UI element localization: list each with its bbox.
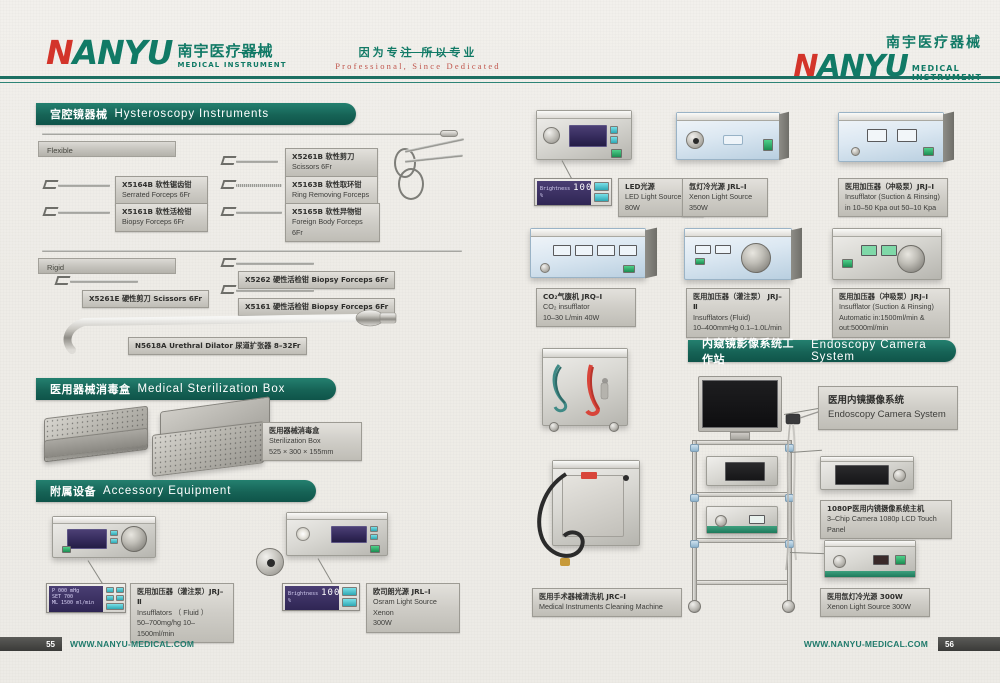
caption-osram: 欧司朗光源 JRL–Ⅰ Osram Light Source Xenon 300…: [366, 583, 460, 633]
section-camera-cn: 内窥镜影像系统工作站: [702, 335, 804, 367]
caption-xenon-spec: 350W: [689, 203, 761, 213]
inset-led-value: 100: [573, 183, 592, 193]
device-1080p-camera-port: [893, 469, 906, 482]
caption-camera-system: 医用内镜摄像系统 Endoscopy Camera System: [818, 386, 958, 430]
device-insufflator-fluid-top: [685, 229, 791, 237]
tagline-rule-left: [238, 52, 266, 53]
device-co2-display-4: [619, 245, 637, 256]
instrument-jaw-rigid-scissors: [55, 276, 71, 285]
device-led-screen: [569, 125, 607, 147]
caption-insufflator-suction-cn: 医用加压器（冲吸泵）JRJ–Ⅰ: [845, 182, 941, 192]
cleaning-machine-upper-caster-right: [609, 422, 619, 432]
caption-1080p-camera: 1080P医用内镜摄像系统主机 3–Chip Camera 1080p LCD …: [820, 500, 952, 539]
light-guide-connector: [256, 548, 284, 576]
cleaning-machine-upper: [542, 348, 628, 426]
caption-infusion-pump: 医用加压器（灌注泵）JRJ–Ⅱ Insufflators （ Fluid ） 5…: [130, 583, 234, 643]
caption-x5165b-cn: X5165B 软性异物钳: [292, 207, 373, 217]
caption-xenon-300w-en: Xenon Light Source 300W: [827, 602, 923, 612]
caption-insufflator-suction-en: Insufflator (Suction & Rinsing): [845, 192, 941, 202]
device-osram-power[interactable]: [370, 545, 380, 553]
caption-sterilization-box: 医用器械消毒盒 Sterilization Box 525 × 300 × 15…: [262, 422, 362, 461]
device-insufflator-auto-display-1: [861, 245, 877, 256]
device-insufflator-auto-power[interactable]: [842, 259, 853, 268]
endoscopy-monitor-screen: [702, 380, 778, 428]
endoscopy-monitor-stand: [730, 432, 750, 440]
brand-tagline: 因为专注 所以专业 Professional, Since Dedicated: [268, 44, 568, 71]
inset-infusion-line3: ML 1500 ml/min: [52, 600, 100, 606]
caption-x5261b-cn: X5261B 软性剪刀: [292, 152, 371, 162]
brand-logo-right: 南宇医疗器械 NANYU MEDICAL INSTRUMENT: [793, 32, 982, 82]
cart-clamp-ml: [690, 494, 699, 502]
section-header-sterilization: 医用器械消毒盒 Medical Sterilization Box: [36, 378, 336, 400]
inset-infusion-pump-screen: P 000 mHg SET 700 ML 1500 ml/min: [49, 586, 103, 612]
cleaning-machine-upper-top: [543, 349, 627, 358]
inset-infusion-btn-3[interactable]: [106, 595, 114, 601]
device-insufflator-suction-display-2: [897, 129, 917, 142]
inset-infusion-btn-1[interactable]: [106, 587, 114, 593]
caption-xenon-cn: 氙灯冷光源 JRL–Ⅰ: [689, 182, 761, 192]
caption-x5165b: X5165B 软性异物钳 Foreign Body Forceps 6Fr: [285, 203, 380, 242]
instrument-shaft-foreign: [236, 211, 282, 214]
caption-cleaning-machine-en: Medical Instruments Cleaning Machine: [539, 602, 675, 612]
brand-subtitle-line1: MEDICAL: [912, 64, 982, 73]
footer-page-number-right: 56: [945, 640, 954, 649]
device-co2-power[interactable]: [623, 265, 635, 273]
tagline-en: Professional, Since Dedicated: [268, 61, 568, 71]
device-co2-display-2: [575, 245, 593, 256]
cleaning-machine-lower-indicator: [623, 475, 629, 481]
device-xenon-300w-top: [825, 541, 915, 547]
section-sterilization-en: Medical Sterilization Box: [138, 383, 286, 395]
forceps-shaft-a: [405, 138, 464, 153]
footer-page-tab-left: 55: [0, 637, 62, 651]
instrument-jaw-serrated: [43, 180, 59, 189]
flexible-scope-shaft: [42, 133, 442, 135]
caption-co2-cn: CO₂气腹机 JRQ–Ⅰ: [543, 292, 629, 302]
section-accessory-en: Accessory Equipment: [103, 485, 231, 497]
instrument-shaft-serrated: [58, 184, 110, 187]
caption-insufflator-auto: 医用加压器（冲吸泵）JRJ–Ⅰ Insufflator (Suction & R…: [832, 288, 950, 338]
device-insufflator-auto-rotor: [897, 245, 925, 273]
device-co2-side: [645, 228, 657, 279]
cart-post-left: [692, 440, 697, 608]
inset-osram: Brightness 100 %: [282, 583, 360, 611]
flexible-scope-tip: [440, 130, 458, 137]
section-header-accessory: 附属设备 Accessory Equipment: [36, 480, 316, 502]
device-insufflator-suction-port: [851, 147, 860, 156]
device-osram-top: [287, 513, 387, 520]
device-xenon-port: [686, 131, 704, 149]
brand-wordmark-right: NANYU: [793, 52, 908, 82]
device-infusion-pump-top: [53, 517, 155, 524]
cart-clamp-tl: [690, 444, 699, 452]
caption-insufflator-auto-en: Insufflator (Suction & Rinsing): [839, 302, 943, 312]
caption-xenon-300w: 医用氙灯冷光源 300W Xenon Light Source 300W: [820, 588, 930, 617]
cart-caster-right: [782, 600, 795, 613]
caption-x5262: X5262 硬性活检钳 Biopsy Forceps 6Fr: [238, 271, 395, 289]
caption-infusion-pump-en: Insufflators （ Fluid ）: [137, 608, 227, 618]
cleaning-machine-lower-top: [553, 461, 639, 469]
footer-page-tab-right: 56: [938, 637, 1000, 651]
instrument-shaft-biopsy-flex: [58, 211, 110, 214]
caption-insufflator-auto-cn: 医用加压器（冲吸泵）JRJ–Ⅰ: [839, 292, 943, 302]
rigid-scope-shaft: [42, 250, 462, 252]
inset-osram-btn-down[interactable]: [342, 598, 357, 607]
caption-co2: CO₂气腹机 JRQ–Ⅰ CO₂ insufflator 10–30 L/min…: [536, 288, 636, 327]
device-co2-insufflator: [530, 228, 646, 278]
caption-insufflator-suction-spec: in 10–50 Kpa out 50–10 Kpa: [845, 203, 941, 213]
device-xenon-300w-stripe: [825, 571, 915, 577]
device-led-light-source: [536, 110, 632, 160]
device-infusion-pump-screen: [67, 529, 107, 549]
section-header-hysteroscopy: 宫腔镜器械 Hysteroscopy Instruments: [36, 103, 356, 125]
inset-infusion-btn-5[interactable]: [106, 603, 124, 610]
cleaning-machine-hoses: [547, 361, 625, 423]
device-infusion-pump-button-2[interactable]: [110, 538, 118, 544]
caption-osram-spec: 300W: [373, 618, 453, 628]
inset-osram-screen: Brightness 100 %: [285, 586, 339, 610]
device-insufflator-suction-side: [943, 112, 954, 163]
device-osram-port: [296, 527, 310, 541]
cart-light-source-port: [715, 515, 727, 527]
device-led-power[interactable]: [611, 149, 622, 158]
device-1080p-camera-top: [821, 457, 913, 462]
device-infusion-pump-button-1[interactable]: [110, 530, 118, 536]
device-co2-port: [540, 263, 550, 273]
caption-sterilization-cn: 医用器械消毒盒: [269, 426, 355, 436]
section-camera-en: Endoscopy Camera System: [811, 339, 956, 363]
instrument-jaw-x5161: [221, 285, 237, 294]
caption-x5261b-en: Scissors 6Fr: [292, 162, 371, 172]
section-accessory-cn: 附属设备: [50, 483, 96, 499]
caption-cleaning-machine: 医用手术器械清洗机 JRC–Ⅰ Medical Instruments Clea…: [532, 588, 682, 617]
caption-insufflator-fluid-en: Insufflators (Fluid): [693, 313, 783, 323]
brand-subtitle-line2: INSTRUMENT: [912, 73, 982, 82]
device-infusion-pump-power[interactable]: [62, 546, 71, 553]
device-insufflator-auto-display-2: [881, 245, 897, 256]
instrument-jaw-biopsy-flex: [43, 207, 59, 216]
instrument-shaft-x5262: [236, 262, 314, 265]
brand-letters-anyu: ANYU: [73, 33, 173, 72]
caption-sterilization-size: 525 × 300 × 155mm: [269, 447, 355, 457]
inset-osram-label: Brightness: [288, 591, 318, 597]
device-insufflator-fluid-power[interactable]: [695, 258, 705, 265]
brand-wordmark: NANYU: [46, 36, 172, 69]
inset-infusion-btn-4[interactable]: [116, 595, 124, 601]
section-header-camera-system: 内窥镜影像系统工作站 Endoscopy Camera System: [688, 340, 956, 362]
caption-x5161b-en: Biopsy Forceps 6Fr: [122, 217, 201, 227]
caption-xenon: 氙灯冷光源 JRL–Ⅰ Xenon Light Source 350W: [682, 178, 768, 217]
caption-x5161b: X5161B 软性活检钳 Biopsy Forceps 6Fr: [115, 203, 208, 232]
tagline-rule-right: [400, 52, 460, 53]
caption-insufflator-fluid-cn: 医用加压器（灌注泵） JRJ–Ⅱ: [693, 292, 783, 313]
instrument-shaft-ring: [236, 184, 282, 187]
device-led-top: [537, 111, 631, 119]
device-insufflator-fluid-side: [791, 228, 802, 281]
device-xenon-side: [779, 112, 789, 160]
device-xenon-control-panel[interactable]: [723, 135, 743, 145]
inset-osram-btn-up[interactable]: [342, 587, 357, 596]
device-osram-button-1[interactable]: [370, 526, 378, 532]
caption-insufflator-auto-spec: Automatic in:1500ml/min & out:5000ml/min: [839, 313, 943, 334]
device-infusion-pump: [52, 516, 156, 558]
device-xenon-300w-port: [833, 555, 846, 568]
caption-x5165b-en: Foreign Body Forceps 6Fr: [292, 217, 373, 238]
caption-xenon-300w-cn: 医用氙灯冷光源 300W: [827, 592, 923, 602]
device-osram-screen: [331, 526, 367, 543]
section-hysteroscopy-cn: 宫腔镜器械: [50, 106, 108, 122]
device-insufflator-fluid-rotor: [741, 243, 771, 273]
caption-n5618a: N5618A Urethral Dilator 尿道扩张器 8–32Fr: [128, 337, 307, 355]
device-insufflator-fluid-display-2: [715, 245, 731, 254]
device-insufflator-fluid: [684, 228, 792, 280]
inset-led-btn-up[interactable]: [594, 182, 609, 191]
section-hysteroscopy-en: Hysteroscopy Instruments: [115, 108, 270, 120]
instrument-shaft-scissors: [236, 160, 278, 163]
caption-sterilization-en: Sterilization Box: [269, 436, 355, 446]
device-xenon-top: [677, 113, 779, 121]
device-co2-display-1: [553, 245, 571, 256]
section-sterilization-cn: 医用器械消毒盒: [50, 381, 131, 397]
cart-camera-unit-screen: [725, 462, 765, 481]
device-co2-top: [531, 229, 645, 237]
brand-letter-n: N: [46, 33, 73, 72]
caption-x5164b-cn: X5164B 软性锯齿钳: [122, 180, 201, 190]
device-xenon-300w-power[interactable]: [895, 555, 906, 565]
device-insufflator-suction-display-1: [867, 129, 887, 142]
device-insufflator-fluid-display-1: [695, 245, 711, 254]
caption-co2-en: CO₂ insufflator: [543, 302, 629, 312]
device-xenon-light-source: [676, 112, 780, 160]
caption-1080p-camera-cn: 1080P医用内镜摄像系统主机: [827, 504, 945, 514]
device-xenon-port-hole: [693, 138, 699, 144]
caption-camera-system-cn: 医用内镜摄像系统: [828, 394, 948, 408]
caption-x5163b-cn: X5163B 软性取环钳: [292, 180, 371, 190]
device-xenon-power[interactable]: [763, 139, 773, 151]
device-led-button-2[interactable]: [610, 136, 618, 144]
light-guide-connector-hole: [267, 559, 275, 567]
forceps-ring-lower: [398, 168, 424, 200]
caption-cleaning-machine-cn: 医用手术器械清洗机 JRC–Ⅰ: [539, 592, 675, 602]
subgroup-label-flexible: Flexible: [38, 141, 176, 157]
caption-osram-cn: 欧司朗光源 JRL–Ⅰ: [373, 587, 453, 597]
inset-osram-unit: %: [288, 598, 336, 604]
inset-led: Brightness 100 %: [534, 178, 612, 206]
inset-infusion-pump: P 000 mHg SET 700 ML 1500 ml/min: [46, 583, 126, 613]
caption-insufflator-fluid: 医用加压器（灌注泵） JRJ–Ⅱ Insufflators (Fluid) 10…: [686, 288, 790, 338]
footer-page-number-left: 55: [46, 640, 55, 649]
cart-light-source-display: [749, 515, 765, 524]
caption-n5618a-text: N5618A Urethral Dilator 尿道扩张器 8–32Fr: [135, 341, 300, 350]
device-co2-display-3: [597, 245, 615, 256]
instrument-jaw-foreign: [221, 207, 237, 216]
inset-infusion-btn-2[interactable]: [116, 587, 124, 593]
caption-1080p-camera-en: 3–Chip Camera 1080p LCD Touch Panel: [827, 514, 945, 535]
caption-x5261b: X5261B 软性剪刀 Scissors 6Fr: [285, 148, 378, 177]
device-osram-button-2[interactable]: [370, 534, 378, 540]
device-infusion-pump-rotor: [121, 526, 147, 552]
inset-osram-value: 100: [321, 588, 340, 598]
inset-led-btn-down[interactable]: [594, 193, 609, 202]
cart-light-source: [706, 506, 778, 534]
device-insufflator-auto-top: [833, 229, 941, 237]
footer-url-left[interactable]: WWW.NANYU-MEDICAL.COM: [70, 639, 194, 649]
caption-x5161b-cn: X5161B 软性活检钳: [122, 207, 201, 217]
inset-led-screen: Brightness 100 %: [537, 181, 591, 205]
caption-co2-spec: 10–30 L/min 40W: [543, 313, 629, 323]
device-osram-light-source: [286, 512, 388, 556]
device-xenon-300w-display: [873, 555, 889, 565]
catalog-page: NANYU 南宇医疗器械 MEDICAL INSTRUMENT 因为专注 所以专…: [0, 0, 1000, 683]
caption-x5261e-text: X5261E 硬性剪刀 Scissors 6Fr: [89, 294, 202, 303]
cleaning-machine-upper-caster-left: [549, 422, 559, 432]
device-1080p-camera: [820, 456, 914, 490]
caption-x5164b-en: Serrated Forceps 6Fr: [122, 190, 201, 200]
cart-clamp-bl: [690, 540, 699, 548]
cart-camera-unit: [706, 456, 778, 486]
instrument-jaw-scissors: [221, 156, 237, 165]
caption-insufflator-fluid-spec: 10–400mmHg 0.1–1.0L/min: [693, 323, 783, 333]
device-insufflator-suction-power[interactable]: [923, 147, 934, 156]
caption-x5262-text: X5262 硬性活检钳 Biopsy Forceps 6Fr: [245, 275, 388, 284]
device-insufflator-suction: [838, 112, 944, 162]
caption-infusion-pump-cn: 医用加压器（灌注泵）JRJ–Ⅱ: [137, 587, 227, 608]
device-xenon-300w: [824, 540, 916, 578]
cart-light-source-stripe: [707, 526, 777, 533]
caption-x5164b: X5164B 软性锯齿钳 Serrated Forceps 6Fr: [115, 176, 208, 205]
cart-caster-left: [688, 600, 701, 613]
instrument-shaft-rigid-scissors: [70, 280, 138, 283]
caption-insufflator-suction: 医用加压器（冲吸泵）JRJ–Ⅰ Insufflator (Suction & R…: [838, 178, 948, 217]
caption-infusion-pump-spec: 50–700mg/hg 10–1500ml/min: [137, 618, 227, 639]
device-led-port: [543, 127, 560, 144]
instrument-jaw-ring: [221, 180, 237, 189]
device-insufflator-suction-top: [839, 113, 943, 121]
footer-url-right[interactable]: WWW.NANYU-MEDICAL.COM: [804, 639, 928, 649]
device-1080p-camera-screen: [835, 465, 889, 485]
instrument-shaft-x5161: [236, 289, 314, 292]
caption-osram-en: Osram Light Source Xenon: [373, 597, 453, 618]
subgroup-label-rigid: Rigid: [38, 258, 176, 274]
inset-led-unit: %: [540, 193, 588, 199]
inset-led-label: Brightness: [540, 186, 570, 192]
instrument-jaw-x5262: [221, 258, 237, 267]
leader-line-osram: [318, 558, 333, 583]
caption-camera-system-en: Endoscopy Camera System: [828, 408, 948, 422]
device-led-button-1[interactable]: [610, 126, 618, 134]
caption-xenon-en: Xenon Light Source: [689, 192, 761, 202]
device-insufflator-auto: [832, 228, 942, 280]
cleaning-machine-lower-hose: [520, 470, 600, 580]
